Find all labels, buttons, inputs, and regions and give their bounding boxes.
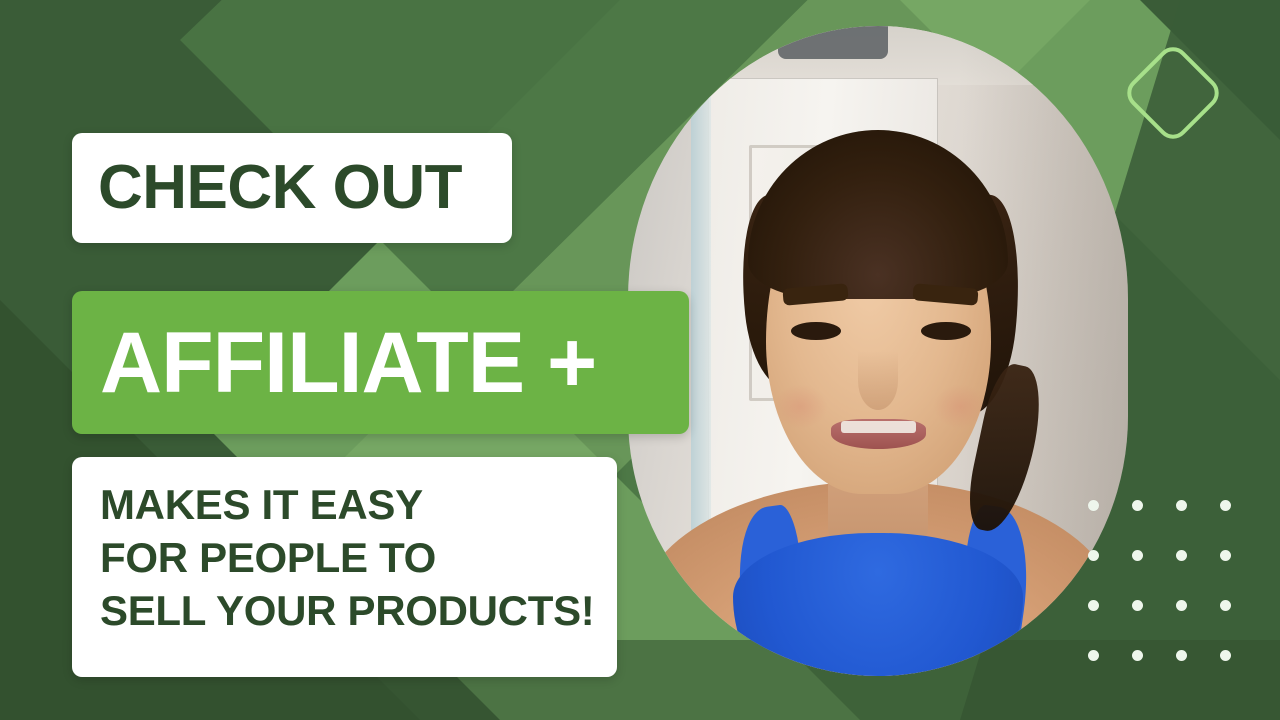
dot bbox=[1132, 600, 1143, 611]
dot bbox=[1176, 550, 1187, 561]
body-copy-card: MAKES IT EASY FOR PEOPLE TO SELL YOUR PR… bbox=[72, 457, 617, 677]
headline-top-text: CHECK OUT bbox=[98, 157, 462, 219]
body-line-1: MAKES IT EASY bbox=[100, 479, 589, 532]
presenter-photo bbox=[628, 26, 1128, 676]
dot bbox=[1088, 500, 1099, 511]
teeth bbox=[841, 421, 916, 433]
dot bbox=[1176, 650, 1187, 661]
dot bbox=[1220, 650, 1231, 661]
dot bbox=[1088, 600, 1099, 611]
dot bbox=[1132, 550, 1143, 561]
hair-top bbox=[748, 130, 1008, 299]
body-line-2: FOR PEOPLE TO bbox=[100, 532, 589, 585]
blue-tank-top bbox=[733, 533, 1023, 676]
dot-grid-decoration bbox=[1088, 500, 1264, 700]
body-line-3: SELL YOUR PRODUCTS! bbox=[100, 585, 589, 638]
headline-main-banner: AFFILIATE + bbox=[72, 291, 689, 434]
dot bbox=[1220, 600, 1231, 611]
dot bbox=[1220, 550, 1231, 561]
eye-left bbox=[791, 322, 841, 340]
dot bbox=[1220, 500, 1231, 511]
eye-right bbox=[921, 322, 971, 340]
dot bbox=[1176, 500, 1187, 511]
dot bbox=[1088, 650, 1099, 661]
dot bbox=[1088, 550, 1099, 561]
person-figure bbox=[628, 26, 1128, 676]
cheek-left bbox=[773, 384, 828, 430]
thumbnail-canvas: CHECK OUT AFFILIATE + MAKES IT EASY FOR … bbox=[0, 0, 1280, 720]
dot bbox=[1132, 500, 1143, 511]
dot bbox=[1132, 650, 1143, 661]
dot bbox=[1176, 600, 1187, 611]
cheek-right bbox=[933, 384, 988, 430]
headline-top-card: CHECK OUT bbox=[72, 133, 512, 243]
nose bbox=[858, 351, 898, 410]
presenter-photo-inner bbox=[628, 26, 1128, 676]
headline-main-text: AFFILIATE + bbox=[100, 320, 596, 406]
